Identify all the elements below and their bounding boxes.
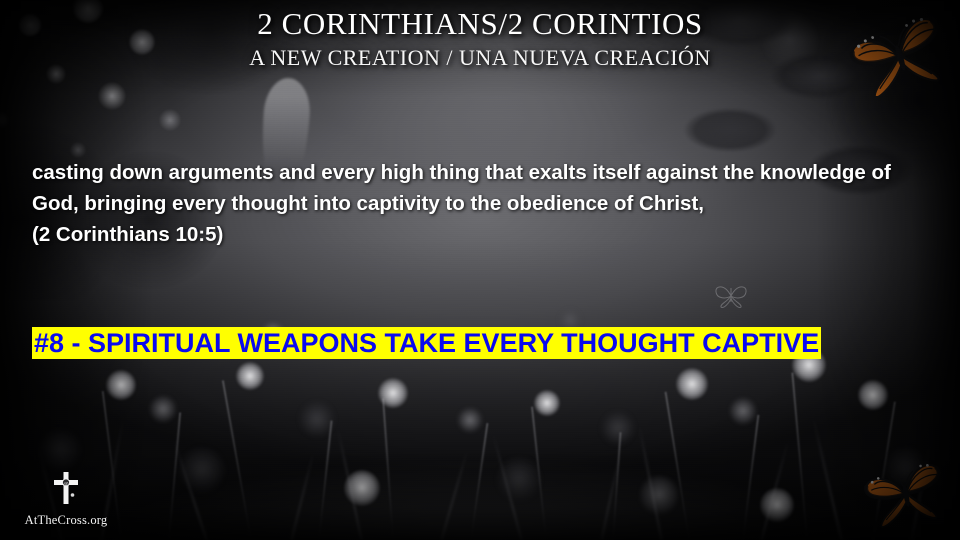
scripture-reference: (2 Corinthians 10:5) bbox=[32, 219, 912, 250]
point-heading: #8 - SPIRITUAL WEAPONS TAKE EVERY THOUGH… bbox=[32, 327, 821, 359]
background-vignette bbox=[0, 0, 960, 540]
presentation-slide: 2 CORINTHIANS/2 CORINTIOS A NEW CREATION… bbox=[0, 0, 960, 540]
svg-text:@: @ bbox=[64, 481, 69, 487]
site-logo[interactable]: @ AtTheCross.org bbox=[14, 470, 118, 528]
slide-title: 2 CORINTHIANS/2 CORINTIOS bbox=[0, 8, 960, 41]
cross-icon: @ bbox=[14, 470, 118, 511]
slide-title-block: 2 CORINTHIANS/2 CORINTIOS A NEW CREATION… bbox=[0, 8, 960, 71]
slide-subtitle: A NEW CREATION / UNA NUEVA CREACIÓN bbox=[0, 44, 960, 72]
point-heading-block: #8 - SPIRITUAL WEAPONS TAKE EVERY THOUGH… bbox=[32, 324, 892, 362]
scripture-block: casting down arguments and every high th… bbox=[32, 157, 912, 250]
scripture-text: casting down arguments and every high th… bbox=[32, 157, 912, 219]
site-logo-text: AtTheCross.org bbox=[14, 513, 118, 528]
